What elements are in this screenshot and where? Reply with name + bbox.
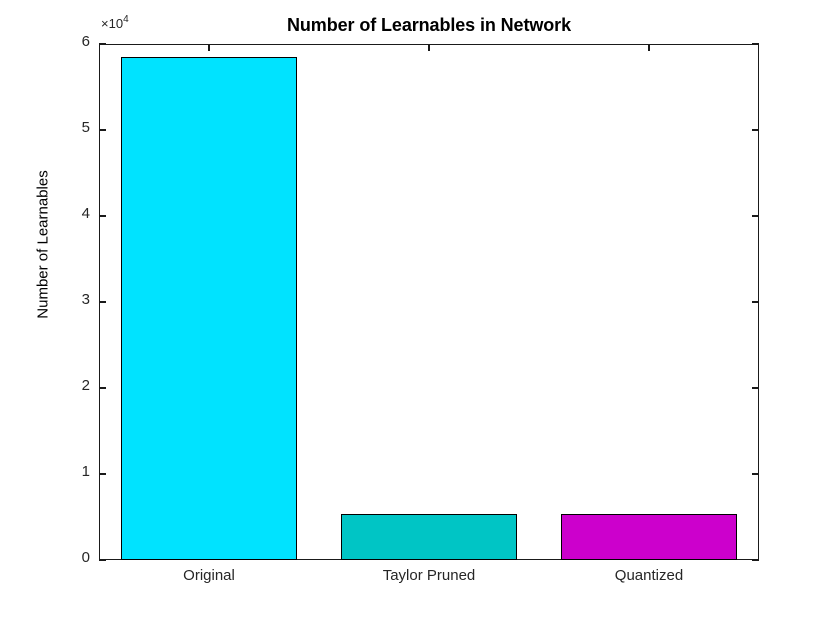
x-axis-tick-label: Original bbox=[119, 567, 299, 584]
bar-original bbox=[121, 57, 297, 560]
figure-canvas: Number of Learnables in Network ×104 Num… bbox=[0, 0, 840, 630]
y-axis-multiplier-base: ×10 bbox=[101, 16, 123, 31]
x-axis-tick-mark-top bbox=[648, 44, 649, 51]
y-axis-tick-mark bbox=[99, 215, 106, 216]
y-axis-tick-mark bbox=[99, 129, 106, 130]
x-axis-tick-mark-top bbox=[428, 44, 429, 51]
y-axis-tick-mark bbox=[99, 387, 106, 388]
y-axis-tick-label: 2 bbox=[63, 377, 90, 394]
y-axis-tick-mark-right bbox=[752, 559, 759, 560]
y-axis-tick-label: 4 bbox=[63, 205, 90, 222]
y-axis-tick-mark bbox=[99, 559, 106, 560]
y-axis-tick-label: 3 bbox=[63, 291, 90, 308]
y-axis-tick-label: 0 bbox=[63, 549, 90, 566]
y-axis-tick-mark-right bbox=[752, 215, 759, 216]
x-axis-tick-mark-top bbox=[208, 44, 209, 51]
bar-taylor-pruned bbox=[341, 514, 517, 560]
y-axis-tick-label: 5 bbox=[63, 119, 90, 136]
y-axis-tick-mark-right bbox=[752, 129, 759, 130]
y-axis-tick-mark bbox=[99, 473, 106, 474]
y-axis-tick-mark bbox=[99, 43, 106, 44]
y-axis-tick-mark bbox=[99, 301, 106, 302]
x-axis-tick-label: Quantized bbox=[559, 567, 739, 584]
x-axis-tick-label: Taylor Pruned bbox=[339, 567, 519, 584]
y-axis-tick-mark-right bbox=[752, 43, 759, 44]
y-axis-label: Number of Learnables bbox=[35, 45, 52, 445]
y-axis-tick-mark-right bbox=[752, 387, 759, 388]
y-axis-tick-label: 1 bbox=[63, 463, 90, 480]
y-axis-multiplier-exponent: 4 bbox=[123, 14, 129, 25]
y-axis-tick-label: 6 bbox=[63, 33, 90, 50]
y-axis-tick-mark-right bbox=[752, 473, 759, 474]
y-axis-multiplier: ×104 bbox=[101, 14, 129, 32]
bar-quantized bbox=[561, 514, 737, 560]
y-axis-tick-mark-right bbox=[752, 301, 759, 302]
chart-title: Number of Learnables in Network bbox=[99, 15, 759, 36]
